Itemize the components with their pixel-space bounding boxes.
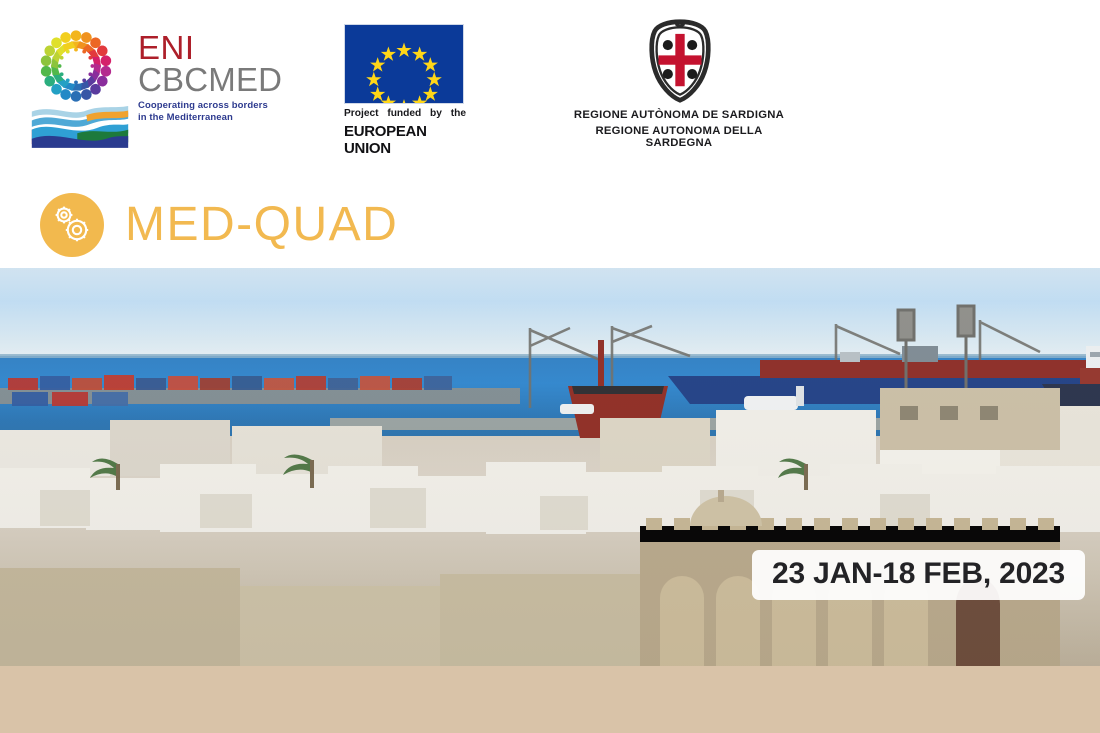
- eni-cbcmed-wordmark: ENI CBCMED Cooperating across borders in…: [138, 32, 298, 124]
- eni-word: ENI: [138, 32, 298, 63]
- logo-strip: ENI CBCMED Cooperating across borders in…: [0, 0, 1100, 168]
- eu-caption-line-2: EUROPEAN UNION: [344, 123, 466, 158]
- footer-band: [0, 666, 1100, 733]
- sousse-harbour-photo: [0, 268, 1100, 666]
- date-badge: 23 JAN-18 FEB, 2023: [752, 550, 1085, 600]
- med-quad-brand: MED-QUAD: [40, 190, 460, 266]
- hero-banner: TRAINING SEMINAR 23 JAN-18 FEB, 2023 Tra…: [0, 268, 1100, 666]
- sardinia-name-line-2: REGIONE AUTONOMA DELLA SARDEGNA: [566, 125, 792, 149]
- photo-tone-overlay: [0, 268, 1100, 666]
- eni-tagline-line-1: Cooperating across borders: [138, 100, 298, 112]
- eni-cbcmed-logo: ENI CBCMED Cooperating across borders in…: [28, 22, 298, 147]
- regione-sardegna-logo: REGIONE AUTÒNOMA DE SARDIGNA REGIONE AUT…: [566, 18, 792, 148]
- eu-caption-line-1: Project funded by the: [344, 108, 466, 120]
- cbcmed-word: CBCMED: [138, 63, 298, 97]
- poster-root: ENI CBCMED Cooperating across borders in…: [0, 0, 1100, 733]
- european-union-logo: Project funded by the EUROPEAN UNION: [344, 24, 468, 144]
- cbcmed-sun-icon: [35, 25, 117, 107]
- eu-flag-icon: [344, 24, 464, 104]
- gears-icon: [50, 202, 94, 246]
- sardinia-coat-of-arms-icon: [642, 18, 718, 104]
- med-quad-title: MED-QUAD: [125, 194, 398, 256]
- eni-tagline: Cooperating across borders in the Medite…: [138, 100, 298, 124]
- eni-tagline-line-2: in the Mediterranean: [138, 112, 298, 124]
- sardinia-name-line-1: REGIONE AUTÒNOMA DE SARDIGNA: [566, 109, 792, 121]
- cbcmed-waves-icon: [30, 102, 130, 150]
